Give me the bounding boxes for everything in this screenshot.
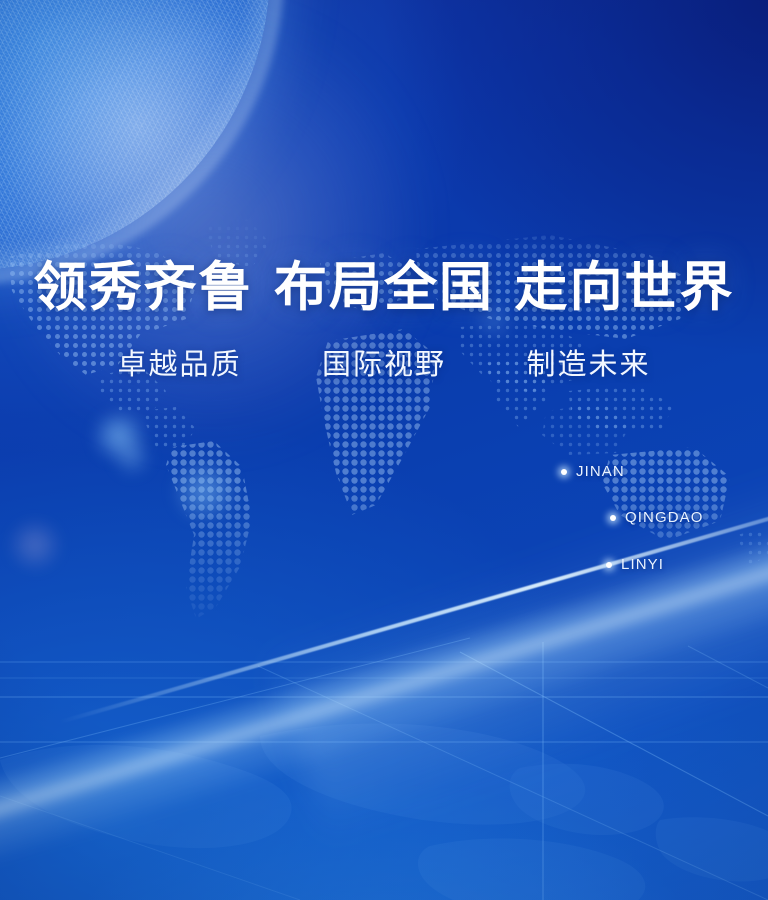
globe-halo-glow — [0, 0, 420, 460]
globe-sphere-icon — [0, 0, 270, 270]
map-pin-icon — [561, 469, 567, 475]
globe-atmosphere-rim — [0, 0, 284, 284]
city-marker-qingdao[interactable]: QINGDAO — [610, 509, 704, 526]
city-marker-jinan[interactable]: JINAN — [561, 463, 625, 480]
city-marker-linyi[interactable]: LINYI — [606, 556, 664, 573]
bokeh-glow-icon — [168, 462, 242, 520]
page-title: 领秀齐鲁 布局全国 走向世界 — [0, 258, 768, 317]
hero-banner: 领秀齐鲁 布局全国 走向世界 卓越品质 国际视野 制造未来 JINAN QING… — [0, 0, 768, 900]
subtitle-row: 卓越品质 国际视野 制造未来 — [0, 341, 768, 383]
globe-graphic — [0, 0, 270, 270]
bokeh-glow-icon — [110, 438, 154, 476]
map-pin-icon — [606, 562, 612, 568]
city-label: QINGDAO — [625, 509, 704, 526]
headline-block: 领秀齐鲁 布局全国 走向世界 卓越品质 国际视野 制造未来 — [0, 258, 768, 383]
ground-map-silhouette — [0, 640, 768, 900]
subtitle-item-2: 国际视野 — [322, 347, 446, 381]
map-pin-icon — [610, 515, 616, 521]
perspective-ground-grid — [0, 600, 768, 900]
bokeh-glow-icon — [6, 520, 64, 570]
light-beam-edge — [59, 494, 768, 724]
city-label: JINAN — [576, 463, 625, 480]
light-beam-soft — [265, 449, 768, 840]
city-label: LINYI — [621, 556, 664, 573]
subtitle-item-1: 卓越品质 — [118, 347, 242, 381]
globe-texture — [0, 0, 270, 270]
subtitle-item-3: 制造未来 — [526, 347, 650, 381]
